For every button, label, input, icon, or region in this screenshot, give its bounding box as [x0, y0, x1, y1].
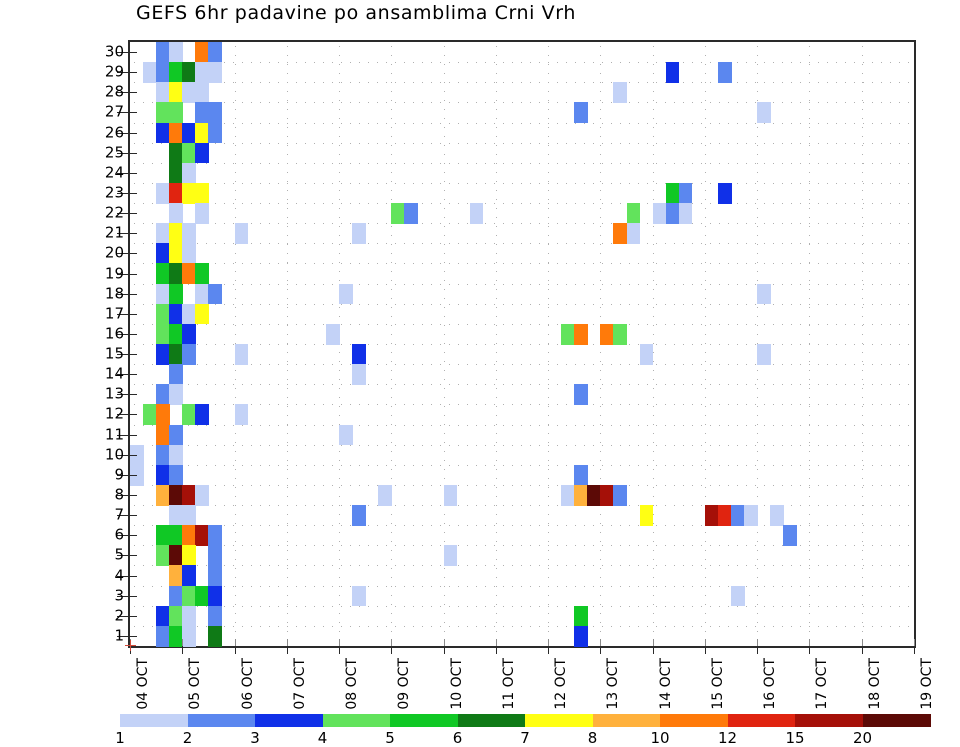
heatmap-cell	[169, 183, 183, 204]
y-axis-tick-inner	[130, 274, 137, 275]
y-axis-label: 30	[105, 45, 124, 60]
y-axis-label: 22	[105, 206, 124, 221]
x-axis-label: 08 OCT	[344, 658, 360, 710]
heatmap-cell	[156, 344, 170, 365]
y-axis-label: 7	[114, 508, 124, 523]
heatmap-cell	[352, 505, 366, 526]
x-axis-tick-inner	[705, 639, 706, 646]
colorbar-tick-label: 10	[650, 729, 669, 747]
y-axis-tick-inner	[130, 72, 137, 73]
heatmap-cell	[208, 545, 222, 566]
y-axis-label: 23	[105, 186, 124, 201]
x-axis-label: 16 OCT	[762, 658, 778, 710]
heatmap-cell	[156, 102, 170, 123]
heatmap-cell	[770, 505, 784, 526]
colorbar-tick-label: 3	[250, 729, 260, 747]
x-axis-tick	[391, 646, 392, 654]
heatmap-cell	[169, 364, 183, 385]
x-axis-tick-inner	[914, 639, 915, 646]
y-axis-tick-inner	[130, 112, 137, 113]
x-axis-tick-inner	[182, 639, 183, 646]
y-axis-label: 2	[114, 608, 124, 623]
x-axis-label: 14 OCT	[658, 658, 674, 710]
colorbar-tick-label: 4	[318, 729, 328, 747]
x-axis-tick	[339, 646, 340, 654]
colorbar-segment	[458, 714, 526, 727]
heatmap-cell	[182, 62, 196, 83]
heatmap-cell	[169, 425, 183, 446]
page-title: GEFS 6hr padavine po ansamblima Crni Vrh	[136, 2, 576, 24]
colorbar-tick-label: 20	[853, 729, 872, 747]
x-axis-label: 12 OCT	[553, 658, 569, 710]
heatmap-plot-area: 1234567891011121314151617181920212223242…	[128, 40, 916, 648]
heatmap-cell	[574, 465, 588, 486]
colorbar-legend: 1234567810121520	[120, 714, 930, 727]
heatmap-cell	[143, 404, 157, 425]
x-axis-label: 18 OCT	[867, 658, 883, 710]
heatmap-cell	[574, 102, 588, 123]
heatmap-cell	[156, 123, 170, 144]
heatmap-cell	[718, 505, 732, 526]
y-axis-label: 6	[114, 528, 124, 543]
y-axis-tick-inner	[130, 213, 137, 214]
y-axis-tick-inner	[130, 455, 137, 456]
y-axis-label: 19	[105, 266, 124, 281]
y-axis-tick-inner	[130, 475, 137, 476]
y-axis-tick-inner	[130, 253, 137, 254]
heatmap-cell	[653, 203, 667, 224]
x-axis-tick-inner	[235, 639, 236, 646]
heatmap-cell	[182, 223, 196, 244]
heatmap-cell	[195, 42, 209, 63]
colorbar-tick-label: 8	[588, 729, 598, 747]
heatmap-cell	[561, 324, 575, 345]
y-axis-label: 29	[105, 65, 124, 80]
y-axis-tick-inner	[130, 596, 137, 597]
y-axis-tick-inner	[130, 92, 137, 93]
heatmap-cell	[666, 62, 680, 83]
y-axis-label: 16	[105, 326, 124, 341]
x-axis-tick-inner	[862, 639, 863, 646]
heatmap-cell	[156, 243, 170, 264]
heatmap-cell	[744, 505, 758, 526]
x-axis-label: 11 OCT	[501, 658, 517, 710]
colorbar-segment	[323, 714, 391, 727]
heatmap-cell	[182, 606, 196, 627]
x-axis-label: 15 OCT	[710, 658, 726, 710]
heatmap-cell	[156, 324, 170, 345]
heatmap-cell	[182, 505, 196, 526]
heatmap-cell	[156, 626, 170, 647]
colorbar-tick-label: 7	[520, 729, 530, 747]
heatmap-cell	[195, 143, 209, 164]
colorbar-segment	[660, 714, 728, 727]
x-axis-label: 05 OCT	[187, 658, 203, 710]
heatmap-cell	[182, 565, 196, 586]
y-axis-tick-inner	[130, 636, 137, 637]
heatmap-cell	[169, 606, 183, 627]
y-axis-tick-inner	[130, 555, 137, 556]
heatmap-cell	[235, 404, 249, 425]
heatmap-cells	[130, 42, 914, 646]
heatmap-cell	[182, 163, 196, 184]
colorbar-tick-label: 2	[183, 729, 193, 747]
heatmap-cell	[679, 183, 693, 204]
x-axis-tick-inner	[653, 639, 654, 646]
y-axis-label: 28	[105, 85, 124, 100]
heatmap-cell	[339, 425, 353, 446]
heatmap-cell	[195, 62, 209, 83]
colorbar-tick-label: 12	[718, 729, 737, 747]
x-axis-tick-inner	[600, 639, 601, 646]
y-axis-label: 27	[105, 105, 124, 120]
heatmap-cell	[182, 485, 196, 506]
heatmap-cell	[169, 123, 183, 144]
heatmap-cell	[666, 203, 680, 224]
heatmap-cell	[156, 485, 170, 506]
heatmap-cell	[195, 586, 209, 607]
x-axis-label: 07 OCT	[292, 658, 308, 710]
x-axis-label: 13 OCT	[605, 658, 621, 710]
x-axis-tick-inner	[339, 639, 340, 646]
x-axis-tick-inner	[444, 639, 445, 646]
y-axis-label: 9	[114, 467, 124, 482]
heatmap-cell	[195, 82, 209, 103]
y-axis-tick-inner	[130, 314, 137, 315]
heatmap-cell	[731, 586, 745, 607]
heatmap-cell	[169, 545, 183, 566]
x-axis-tick-inner	[809, 639, 810, 646]
x-axis-label: 17 OCT	[814, 658, 830, 710]
heatmap-cell	[587, 485, 601, 506]
colorbar-segment	[120, 714, 188, 727]
heatmap-cell	[169, 505, 183, 526]
y-axis-label: 15	[105, 347, 124, 362]
heatmap-cell	[757, 284, 771, 305]
heatmap-cell	[444, 485, 458, 506]
heatmap-cell	[640, 344, 654, 365]
heatmap-cell	[613, 485, 627, 506]
x-axis-tick	[914, 646, 915, 654]
y-axis-label: 1	[114, 628, 124, 643]
heatmap-cell	[444, 545, 458, 566]
heatmap-cell	[182, 626, 196, 647]
heatmap-cell	[613, 223, 627, 244]
y-axis-label: 8	[114, 488, 124, 503]
heatmap-cell	[640, 505, 654, 526]
x-axis-tick-inner	[757, 639, 758, 646]
x-axis-label: 10 OCT	[449, 658, 465, 710]
y-axis-tick-inner	[130, 576, 137, 577]
x-axis-label: 06 OCT	[240, 658, 256, 710]
heatmap-cell	[666, 183, 680, 204]
heatmap-cell	[169, 626, 183, 647]
x-axis-tick-inner	[287, 639, 288, 646]
heatmap-cell	[326, 324, 340, 345]
heatmap-cell	[182, 344, 196, 365]
heatmap-cell	[169, 304, 183, 325]
heatmap-cell	[235, 223, 249, 244]
origin-marker	[125, 640, 136, 651]
colorbar-segment	[390, 714, 458, 727]
x-axis-tick	[600, 646, 601, 654]
y-axis-tick-inner	[130, 294, 137, 295]
heatmap-cell	[182, 545, 196, 566]
x-axis-tick	[496, 646, 497, 654]
heatmap-cell	[208, 123, 222, 144]
x-axis-tick	[444, 646, 445, 654]
x-axis-tick	[757, 646, 758, 654]
heatmap-cell	[169, 42, 183, 63]
heatmap-cell	[169, 485, 183, 506]
y-axis-label: 17	[105, 306, 124, 321]
heatmap-cell	[156, 183, 170, 204]
heatmap-cell	[195, 263, 209, 284]
y-axis-tick-inner	[130, 233, 137, 234]
heatmap-cell	[156, 404, 170, 425]
heatmap-cell	[208, 626, 222, 647]
y-axis-label: 21	[105, 226, 124, 241]
heatmap-cell	[195, 404, 209, 425]
heatmap-cell	[182, 263, 196, 284]
heatmap-cell	[169, 163, 183, 184]
y-axis-tick-inner	[130, 334, 137, 335]
heatmap-cell	[470, 203, 484, 224]
y-axis-tick-inner	[130, 52, 137, 53]
y-axis-tick-inner	[130, 515, 137, 516]
heatmap-cell	[143, 62, 157, 83]
heatmap-cell	[156, 263, 170, 284]
colorbar-segment	[255, 714, 323, 727]
heatmap-cell	[182, 324, 196, 345]
heatmap-cell	[169, 143, 183, 164]
heatmap-cell	[169, 384, 183, 405]
heatmap-cell	[182, 183, 196, 204]
colorbar-segment	[728, 714, 796, 727]
heatmap-cell	[352, 586, 366, 607]
x-axis-tick-inner	[548, 639, 549, 646]
y-axis-label: 12	[105, 407, 124, 422]
heatmap-cell	[208, 62, 222, 83]
heatmap-cell	[574, 324, 588, 345]
x-axis-tick	[653, 646, 654, 654]
heatmap-cell	[169, 525, 183, 546]
x-axis-label: 04 OCT	[135, 658, 151, 710]
heatmap-cell	[195, 123, 209, 144]
heatmap-cell	[352, 364, 366, 385]
y-axis-tick-inner	[130, 394, 137, 395]
y-axis-tick-inner	[130, 535, 137, 536]
heatmap-cell	[195, 183, 209, 204]
heatmap-cell	[378, 485, 392, 506]
heatmap-cell	[169, 62, 183, 83]
chart-page: GEFS 6hr padavine po ansamblima Crni Vrh…	[0, 0, 960, 742]
heatmap-cell	[757, 344, 771, 365]
heatmap-cell	[391, 203, 405, 224]
heatmap-cell	[156, 606, 170, 627]
heatmap-cell	[757, 102, 771, 123]
heatmap-cell	[208, 42, 222, 63]
heatmap-cell	[561, 485, 575, 506]
heatmap-cell	[613, 324, 627, 345]
heatmap-cell	[156, 284, 170, 305]
heatmap-cell	[169, 82, 183, 103]
heatmap-cell	[195, 525, 209, 546]
heatmap-cell	[169, 243, 183, 264]
heatmap-cell	[156, 425, 170, 446]
y-axis-tick-inner	[130, 193, 137, 194]
heatmap-cell	[182, 404, 196, 425]
heatmap-cell	[169, 203, 183, 224]
y-axis-tick-inner	[130, 495, 137, 496]
heatmap-cell	[182, 586, 196, 607]
heatmap-cell	[156, 223, 170, 244]
heatmap-cell	[705, 505, 719, 526]
heatmap-cell	[169, 263, 183, 284]
y-axis-tick-inner	[130, 374, 137, 375]
heatmap-cell	[182, 123, 196, 144]
x-axis-tick	[548, 646, 549, 654]
heatmap-cell	[718, 183, 732, 204]
x-axis-tick	[809, 646, 810, 654]
heatmap-cell	[156, 42, 170, 63]
heatmap-cell	[156, 445, 170, 466]
y-axis-tick-inner	[130, 616, 137, 617]
heatmap-cell	[182, 143, 196, 164]
y-axis-label: 26	[105, 125, 124, 140]
heatmap-cell	[235, 344, 249, 365]
heatmap-cell	[156, 304, 170, 325]
heatmap-cell	[156, 384, 170, 405]
colorbar-segment	[863, 714, 931, 727]
heatmap-cell	[208, 284, 222, 305]
y-axis-label: 14	[105, 367, 124, 382]
x-axis-tick-inner	[391, 639, 392, 646]
colorbar-tick-label: 1	[115, 729, 125, 747]
y-axis-tick-inner	[130, 354, 137, 355]
heatmap-cell	[339, 284, 353, 305]
heatmap-cell	[783, 525, 797, 546]
heatmap-cell	[679, 203, 693, 224]
heatmap-cell	[208, 606, 222, 627]
heatmap-cell	[156, 525, 170, 546]
x-axis-tick-inner	[496, 639, 497, 646]
heatmap-cell	[169, 565, 183, 586]
heatmap-cell	[169, 465, 183, 486]
heatmap-cell	[600, 485, 614, 506]
heatmap-cell	[352, 344, 366, 365]
x-axis-label: 09 OCT	[396, 658, 412, 710]
y-axis-label: 10	[105, 447, 124, 462]
heatmap-cell	[169, 324, 183, 345]
y-axis-label: 3	[114, 588, 124, 603]
heatmap-cell	[731, 505, 745, 526]
heatmap-cell	[574, 384, 588, 405]
colorbar-segment	[593, 714, 661, 727]
heatmap-cell	[613, 82, 627, 103]
heatmap-cell	[352, 223, 366, 244]
heatmap-cell	[169, 445, 183, 466]
y-axis-label: 4	[114, 568, 124, 583]
heatmap-cell	[718, 62, 732, 83]
heatmap-cell	[169, 102, 183, 123]
heatmap-cell	[195, 304, 209, 325]
colorbar-tick-label: 15	[785, 729, 804, 747]
heatmap-cell	[627, 203, 641, 224]
colorbar-tick-label: 6	[453, 729, 463, 747]
y-axis-label: 25	[105, 145, 124, 160]
x-axis-tick	[287, 646, 288, 654]
heatmap-cell	[208, 586, 222, 607]
y-axis-tick-inner	[130, 133, 137, 134]
heatmap-cell	[182, 82, 196, 103]
y-axis-label: 24	[105, 165, 124, 180]
x-axis-tick	[182, 646, 183, 654]
heatmap-cell	[169, 284, 183, 305]
x-axis-tick	[235, 646, 236, 654]
heatmap-cell	[195, 284, 209, 305]
colorbar-tick-label: 5	[385, 729, 395, 747]
y-axis-label: 5	[114, 548, 124, 563]
heatmap-cell	[169, 223, 183, 244]
y-axis-tick-inner	[130, 435, 137, 436]
y-axis-label: 11	[105, 427, 124, 442]
heatmap-cell	[156, 545, 170, 566]
heatmap-cell	[574, 626, 588, 647]
heatmap-cell	[182, 243, 196, 264]
y-axis-label: 18	[105, 286, 124, 301]
x-axis-tick	[705, 646, 706, 654]
heatmap-cell	[574, 485, 588, 506]
y-axis-label: 13	[105, 387, 124, 402]
colorbar-segment	[525, 714, 593, 727]
heatmap-cell	[156, 62, 170, 83]
heatmap-cell	[156, 465, 170, 486]
colorbar-segment	[188, 714, 256, 727]
heatmap-cell	[208, 525, 222, 546]
heatmap-cell	[182, 525, 196, 546]
heatmap-cell	[208, 565, 222, 586]
y-axis-tick-inner	[130, 153, 137, 154]
y-axis-label: 20	[105, 246, 124, 261]
heatmap-cell	[600, 324, 614, 345]
heatmap-cell	[182, 304, 196, 325]
heatmap-cell	[195, 485, 209, 506]
x-axis-tick	[862, 646, 863, 654]
x-axis-label: 19 OCT	[919, 658, 935, 710]
heatmap-cell	[208, 102, 222, 123]
heatmap-cell	[169, 586, 183, 607]
heatmap-cell	[627, 223, 641, 244]
colorbar-segment	[795, 714, 863, 727]
y-axis-tick-inner	[130, 173, 137, 174]
heatmap-cell	[574, 606, 588, 627]
heatmap-cell	[156, 82, 170, 103]
heatmap-cell	[404, 203, 418, 224]
heatmap-cell	[169, 344, 183, 365]
y-axis-tick-inner	[130, 414, 137, 415]
heatmap-cell	[195, 102, 209, 123]
heatmap-cell	[195, 203, 209, 224]
